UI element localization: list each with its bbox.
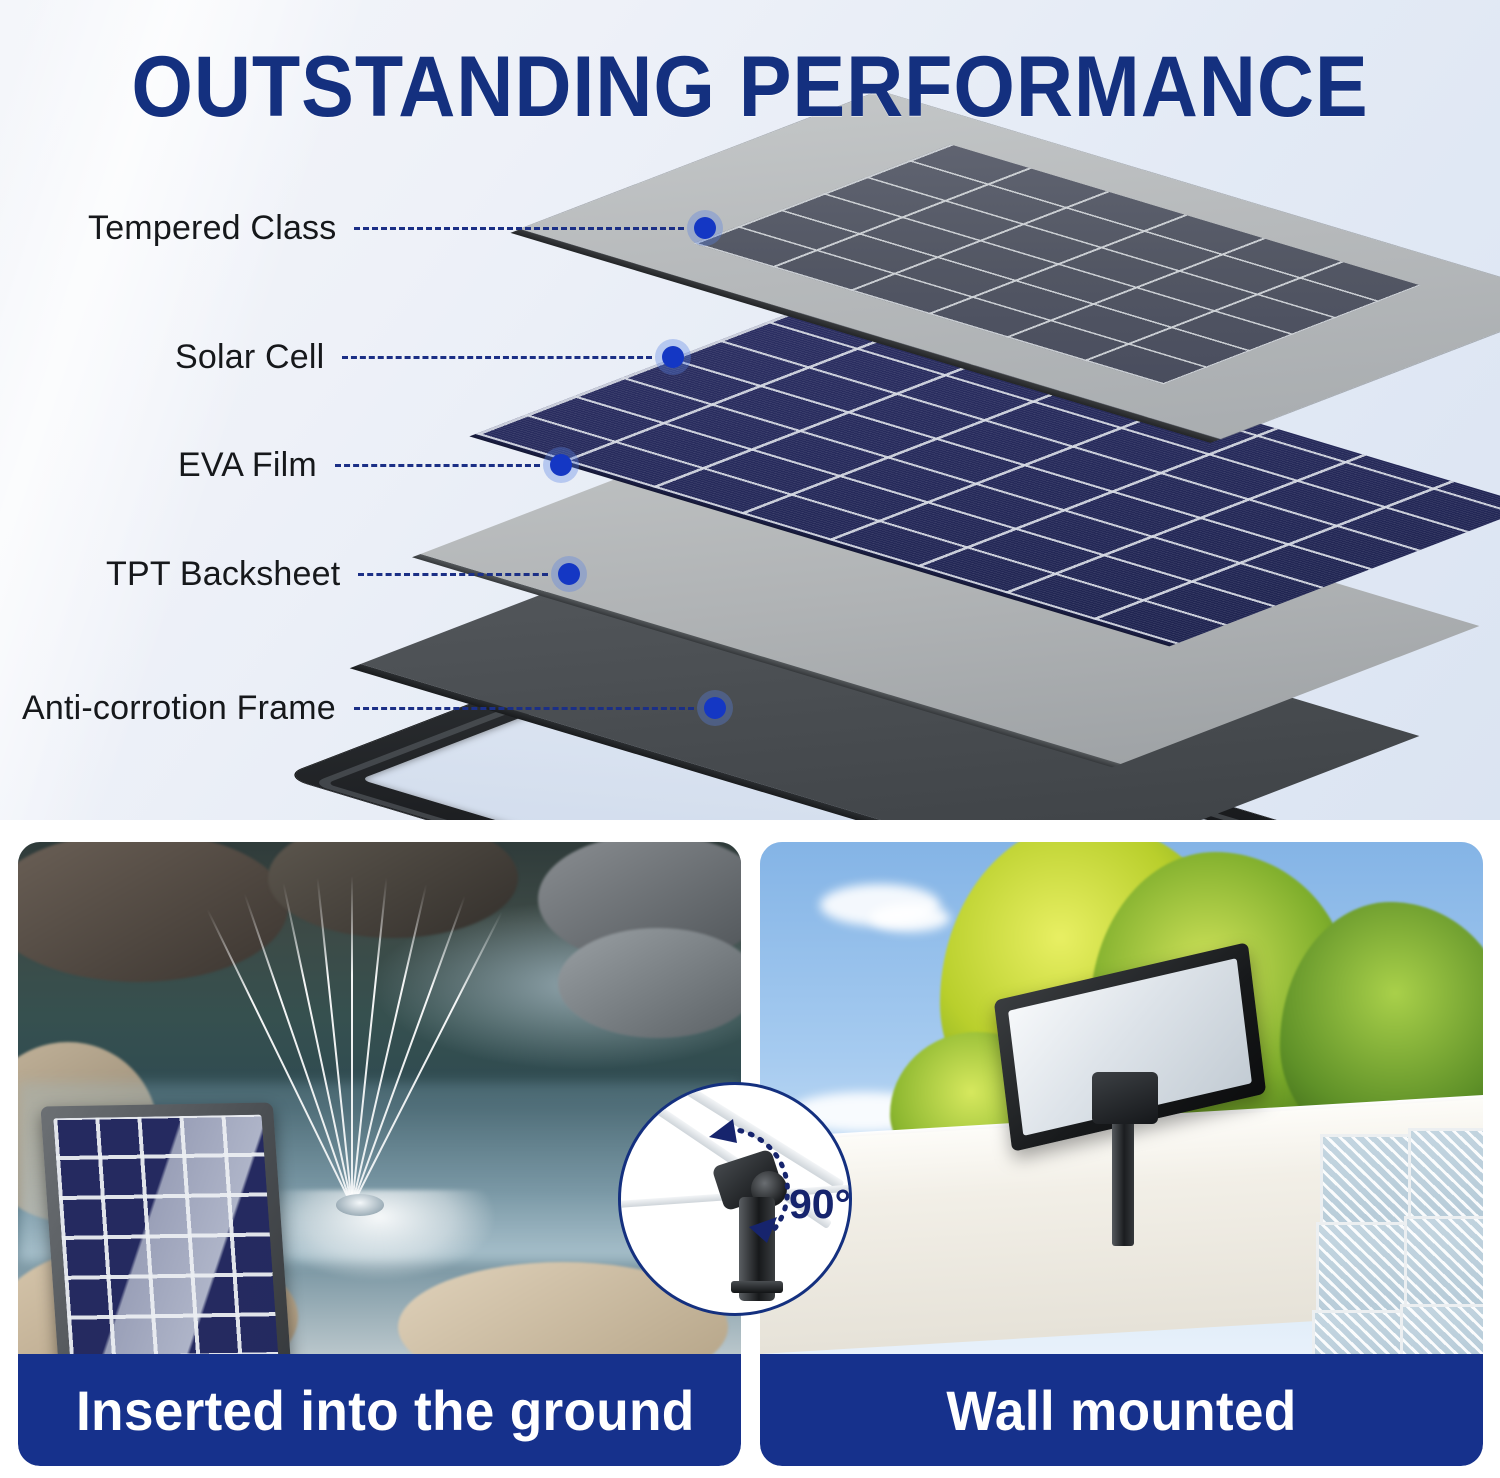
fountain-nozzle [336,1194,384,1216]
glass-block [1404,1216,1483,1308]
leader-dot [558,563,580,585]
leader-line [354,227,684,230]
adjustable-bracket [1092,1072,1158,1124]
leader-dot [694,217,716,239]
cloud [870,904,950,932]
callout-tpt-backsheet: TPT Backsheet [106,552,580,596]
caption-text: Inserted into the ground [36,1378,723,1443]
wall-mounted-photo [760,842,1483,1354]
exploded-diagram-panel: OUTSTANDING PERFORMANCE [0,0,1500,820]
callout-eva-film: EVA Film [178,443,572,487]
callout-label: Anti-corrotion Frame [22,689,336,728]
page-title: OUTSTANDING PERFORMANCE [60,38,1440,137]
rock [268,842,518,938]
glass-block [1408,1128,1483,1220]
leader-line [358,573,548,576]
ground-stake-solar-panel [40,1102,299,1354]
callout-tempered-glass: Tempered Class [88,206,716,250]
callout-label: TPT Backsheet [106,555,340,594]
rock [18,842,288,982]
card-wall-mounted: Wall mounted [760,842,1483,1466]
caption-bar-left: Inserted into the ground [18,1354,741,1466]
rock [558,928,741,1038]
callout-label: Tempered Class [88,209,336,248]
leader-dot [662,346,684,368]
leader-dot [550,454,572,476]
caption-bar-right: Wall mounted [760,1354,1483,1466]
callout-label: Solar Cell [175,338,324,377]
glass-block [1320,1134,1412,1226]
mounting-pole [1112,1114,1134,1246]
leader-line [335,464,540,467]
water-jet [351,876,353,1206]
angle-adjustment-callout: 90° [618,1082,852,1316]
callout-solar-cell: Solar Cell [175,335,684,379]
angle-value-label: 90° [789,1181,851,1228]
callout-label: EVA Film [178,446,317,485]
glass-block [1400,1304,1483,1354]
callout-anti-corrosion-frame: Anti-corrotion Frame [22,686,726,730]
caption-text: Wall mounted [778,1378,1465,1443]
panel-cells [53,1115,287,1354]
product-infographic: OUTSTANDING PERFORMANCE [0,0,1500,1478]
leader-line [354,707,694,710]
glass-block [1316,1222,1408,1314]
panel-frame [40,1102,299,1354]
leader-line [342,356,652,359]
glass-block [1312,1310,1404,1354]
leader-dot [704,697,726,719]
